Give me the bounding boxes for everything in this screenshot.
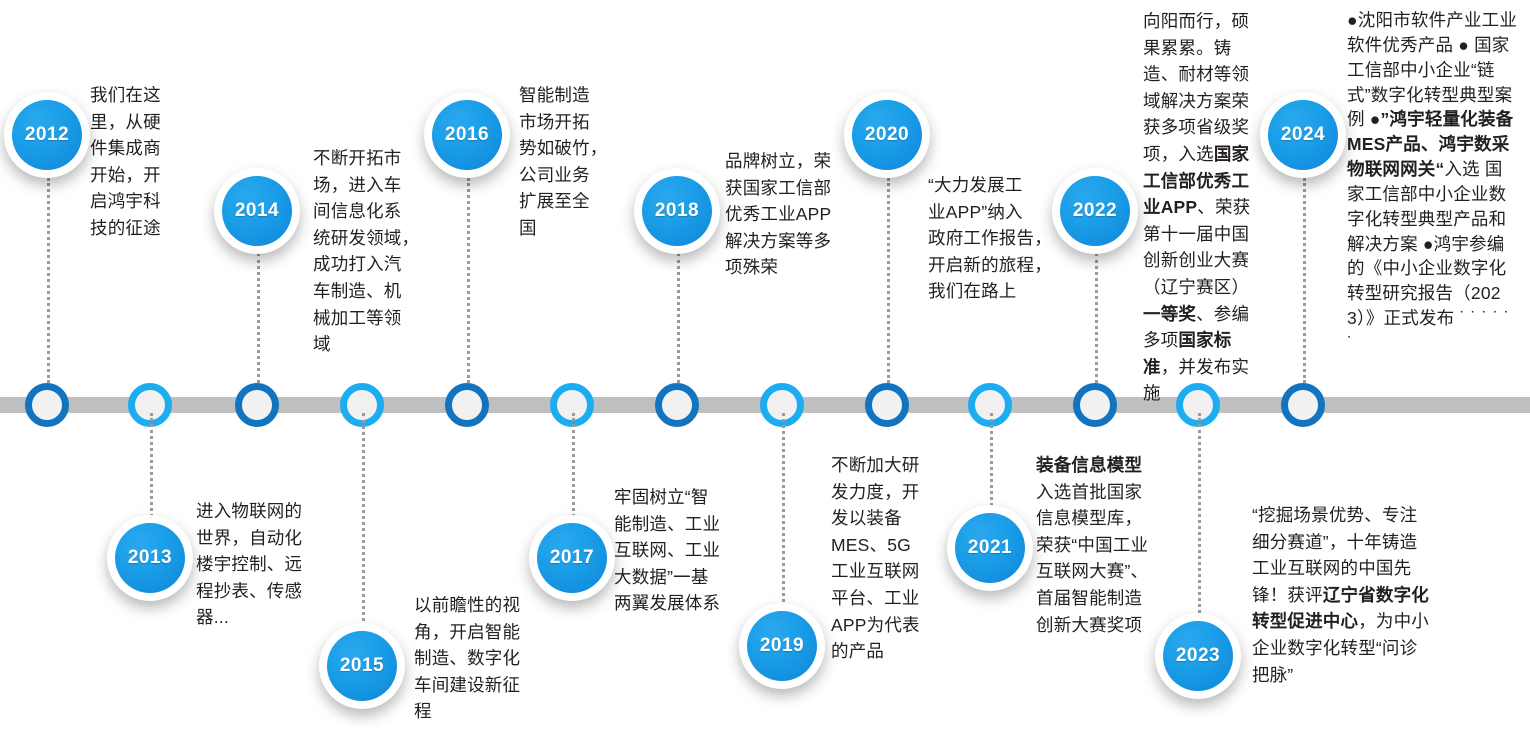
- milestone-text-2015: 以前瞻性的视 角，开启智能 制造、数字化 车间建设新征 程: [414, 592, 544, 725]
- year-bubble-2012[interactable]: 2012: [4, 92, 90, 178]
- timeline-node-2012[interactable]: [25, 383, 69, 427]
- milestone-text-2012: 我们在这 里，从硬 件集成商 开始，开 启鸿宇科 技的征途: [90, 82, 182, 242]
- year-label-2019: 2019: [747, 611, 817, 681]
- connector-2015: [362, 413, 365, 628]
- year-label-2017: 2017: [537, 523, 607, 593]
- year-label-2015: 2015: [327, 631, 397, 701]
- year-bubble-2024[interactable]: 2024: [1260, 92, 1346, 178]
- milestone-text-2016: 智能制造 市场开拓 势如破竹， 公司业务 扩展至全 国: [519, 82, 611, 242]
- milestone-text-2022: 向阳而行，硕果累累。铸造、耐材等领域解决方案荣获多项省级奖项，入选国家工信部优秀…: [1143, 8, 1265, 407]
- milestone-text-2021: 装备信息模型入选首批国家信息模型库，荣获“中国工业互联网大赛”、首届智能制造创新…: [1036, 452, 1158, 638]
- year-bubble-2018[interactable]: 2018: [634, 168, 720, 254]
- milestone-text-2018: 品牌树立，荣 获国家工信部 优秀工业APP 解决方案等多 项殊荣: [725, 148, 851, 281]
- timeline-node-2014[interactable]: [235, 383, 279, 427]
- milestone-text-2019: 不断加大研 发力度，开 发以装备 MES、5G 工业互联网 平台、工业 APP为…: [831, 452, 935, 665]
- milestone-text-2014: 不断开拓市 场，进入车 间信息化系 统研发领域， 成功打入汽 车制造、机 械加工…: [313, 145, 423, 358]
- milestone-text-2023: “挖掘场景优势、专注细分赛道”，十年铸造工业互联网的中国先锋！获评辽宁省数字化转…: [1252, 502, 1434, 688]
- connector-2016: [467, 178, 470, 383]
- connector-2014: [257, 253, 260, 383]
- year-label-2022: 2022: [1060, 176, 1130, 246]
- year-bubble-2016[interactable]: 2016: [424, 92, 510, 178]
- connector-2019: [782, 413, 785, 608]
- connector-2023: [1198, 413, 1201, 618]
- connector-2012: [47, 178, 50, 383]
- timeline-node-2020[interactable]: [865, 383, 909, 427]
- year-bubble-2022[interactable]: 2022: [1052, 168, 1138, 254]
- year-label-2024: 2024: [1268, 100, 1338, 170]
- year-label-2016: 2016: [432, 100, 502, 170]
- year-label-2021: 2021: [955, 513, 1025, 583]
- year-bubble-2019[interactable]: 2019: [739, 603, 825, 689]
- milestone-text-2017: 牢固树立“智 能制造、工业 互联网、工业 大数据”一基 两翼发展体系: [614, 484, 742, 617]
- year-label-2023: 2023: [1163, 621, 1233, 691]
- connector-2021: [990, 413, 993, 518]
- connector-2024: [1303, 178, 1306, 383]
- connector-2020: [887, 178, 890, 383]
- year-bubble-2014[interactable]: 2014: [214, 168, 300, 254]
- year-label-2013: 2013: [115, 523, 185, 593]
- timeline-node-2022[interactable]: [1073, 383, 1117, 427]
- year-bubble-2021[interactable]: 2021: [947, 505, 1033, 591]
- year-bubble-2017[interactable]: 2017: [529, 515, 615, 601]
- timeline-node-2024[interactable]: [1281, 383, 1325, 427]
- year-label-2014: 2014: [222, 176, 292, 246]
- timeline-node-2016[interactable]: [445, 383, 489, 427]
- year-bubble-2013[interactable]: 2013: [107, 515, 193, 601]
- year-label-2018: 2018: [642, 176, 712, 246]
- milestone-text-2013: 进入物联网的 世界，自动化 楼宇控制、远 程抄表、传感 器...: [196, 498, 342, 631]
- connector-2013: [150, 413, 153, 528]
- year-bubble-2020[interactable]: 2020: [844, 92, 930, 178]
- year-label-2012: 2012: [12, 100, 82, 170]
- connector-2017: [572, 413, 575, 528]
- year-bubble-2015[interactable]: 2015: [319, 623, 405, 709]
- timeline-node-2018[interactable]: [655, 383, 699, 427]
- timeline-infographic: 2012 2013 2014 2015 2016 2017 2018 2019 …: [0, 0, 1530, 746]
- connector-2022: [1095, 253, 1098, 383]
- year-label-2020: 2020: [852, 100, 922, 170]
- milestone-text-2024: ●沈阳市软件产业工业软件优秀产品 ● 国家工信部中小企业“链式”数字化转型典型案…: [1347, 8, 1519, 356]
- year-bubble-2023[interactable]: 2023: [1155, 613, 1241, 699]
- connector-2018: [677, 253, 680, 383]
- milestone-text-2020: “大力发展工 业APP”纳入 政府工作报告， 开启新的旅程， 我们在路上: [928, 172, 1056, 305]
